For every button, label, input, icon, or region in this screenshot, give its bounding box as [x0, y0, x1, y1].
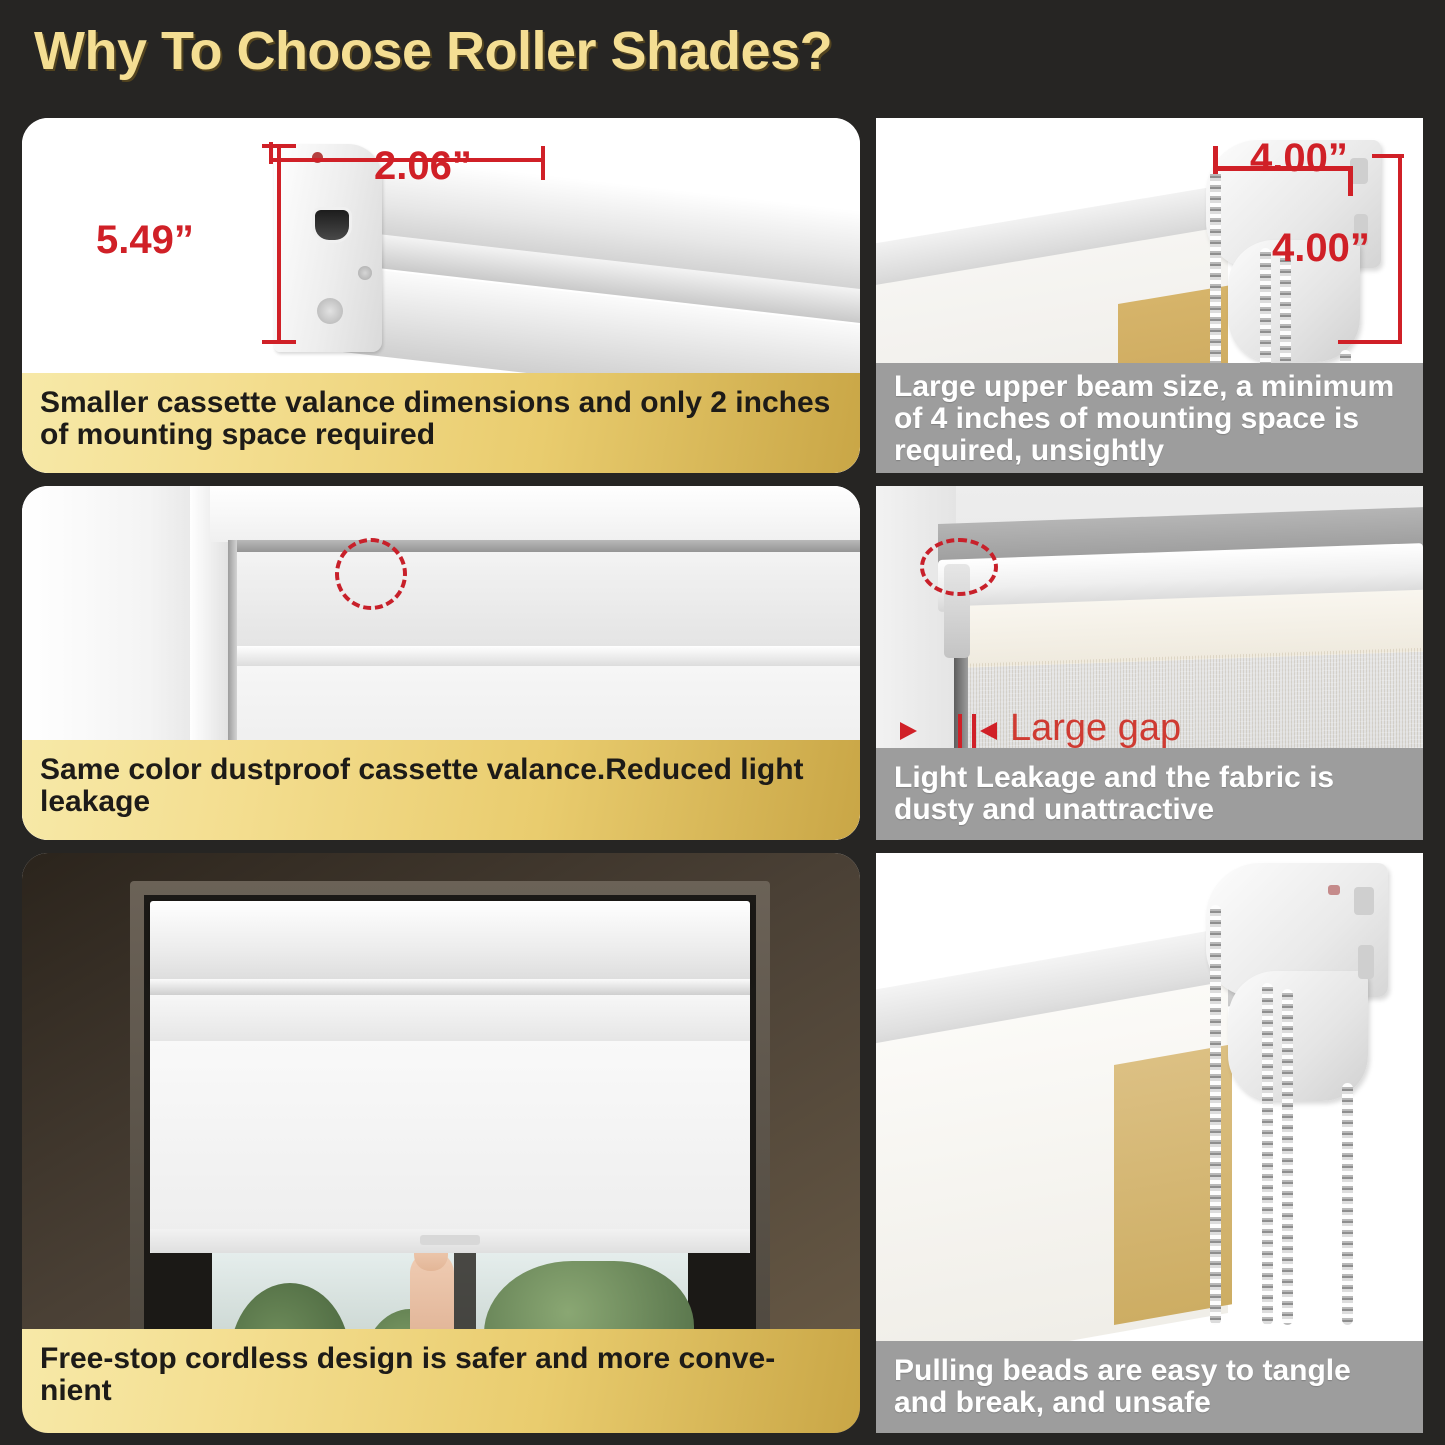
valance-face-upper	[228, 552, 860, 648]
panel-con-pulling-beads[interactable]: Pulling beads are easy to tangle and bre…	[876, 853, 1423, 1433]
caption-text: Light Leakage and the fabric is dusty an…	[894, 762, 1405, 826]
panel-con-large-upper-beam[interactable]: 4.00” 4.00” Large upper beam size, a min…	[876, 118, 1423, 473]
caption-text: Large upper beam size, a minimum of 4 in…	[894, 371, 1405, 466]
dim-width-tick-right	[1348, 166, 1353, 196]
gap-arrow-in-right	[980, 722, 997, 740]
bead-chain	[1210, 905, 1221, 1325]
caption-pro-cordless-design: Free-stop cordless design is safer and m…	[22, 1329, 860, 1433]
gap-marker	[972, 714, 976, 748]
gap-arrow-in-left	[900, 722, 917, 740]
window-casing-top	[210, 486, 860, 542]
roller-bracket-lower	[1228, 971, 1368, 1101]
caption-text: Free-stop cordless design is safer and m…	[40, 1343, 775, 1407]
bead-chain	[1282, 989, 1293, 1325]
gap-callout-label: Large gap	[1010, 707, 1181, 750]
dim-height-tick-bottom	[262, 340, 296, 344]
caption-con-large-upper-beam: Large upper beam size, a minimum of 4 in…	[876, 363, 1423, 473]
pull-tab	[420, 1235, 480, 1245]
dim-height-line	[1398, 154, 1402, 344]
panel-pro-cordless-design[interactable]: Free-stop cordless design is safer and m…	[22, 853, 860, 1433]
bracket-slot-icon	[1354, 887, 1374, 915]
mount-slot-icon	[315, 210, 349, 240]
valance-center-groove	[228, 646, 860, 668]
screw-icon	[358, 266, 372, 280]
highlight-circle	[920, 538, 998, 596]
dim-width-label: 4.00”	[1250, 136, 1348, 181]
panel-con-light-leakage[interactable]: Large gap Light Leakage and the fabric i…	[876, 486, 1423, 840]
dim-height-label: 5.49”	[96, 218, 194, 263]
caption-pro-cassette-dimensions: Smaller cassette valance dimensions and …	[22, 373, 860, 473]
valance-lower-lip	[150, 995, 750, 1041]
panel-pro-dustproof-valance[interactable]: smaller gap Same color dustproof cassett…	[22, 486, 860, 840]
dim-width-label: 2.06”	[374, 144, 472, 189]
gap-marker	[958, 714, 962, 748]
caption-text: Pulling beads are easy to tangle and bre…	[894, 1355, 1405, 1419]
dim-height-tick-top	[1372, 154, 1404, 158]
bead-chain	[1342, 1083, 1353, 1325]
comparison-grid: 2.06” 5.49” Smaller cassette valance dim…	[0, 108, 1445, 1445]
caption-text: Same color dustproof cassette valance.Re…	[40, 754, 842, 818]
caption-pro-dustproof-valance: Same color dustproof cassette valance.Re…	[22, 740, 860, 840]
infographic-page: Why To Choose Roller Shades?	[0, 0, 1445, 1445]
dim-height-tick-top	[262, 144, 296, 148]
dim-width-tick-right	[541, 146, 545, 180]
dim-width-tick-left	[1213, 146, 1218, 174]
bracket-slot-icon	[1358, 945, 1374, 979]
caption-con-pulling-beads: Pulling beads are easy to tangle and bre…	[876, 1341, 1423, 1433]
dim-height-tick-bottom	[1338, 340, 1402, 344]
shade-fabric-panel	[150, 1041, 750, 1253]
bead-chain	[1262, 983, 1273, 1325]
caption-text: Smaller cassette valance dimensions and …	[40, 387, 842, 451]
page-title: Why To Choose Roller Shades?	[34, 20, 832, 82]
dim-height-label: 4.00”	[1272, 226, 1370, 271]
cassette-valance	[150, 901, 750, 983]
highlight-circle	[335, 538, 407, 610]
caption-con-light-leakage: Light Leakage and the fabric is dusty an…	[876, 748, 1423, 840]
dim-height-line	[277, 144, 281, 344]
screw-icon	[317, 298, 343, 324]
bracket-pin-icon	[1328, 885, 1340, 895]
panel-pro-cassette-dimensions[interactable]: 2.06” 5.49” Smaller cassette valance dim…	[22, 118, 860, 473]
